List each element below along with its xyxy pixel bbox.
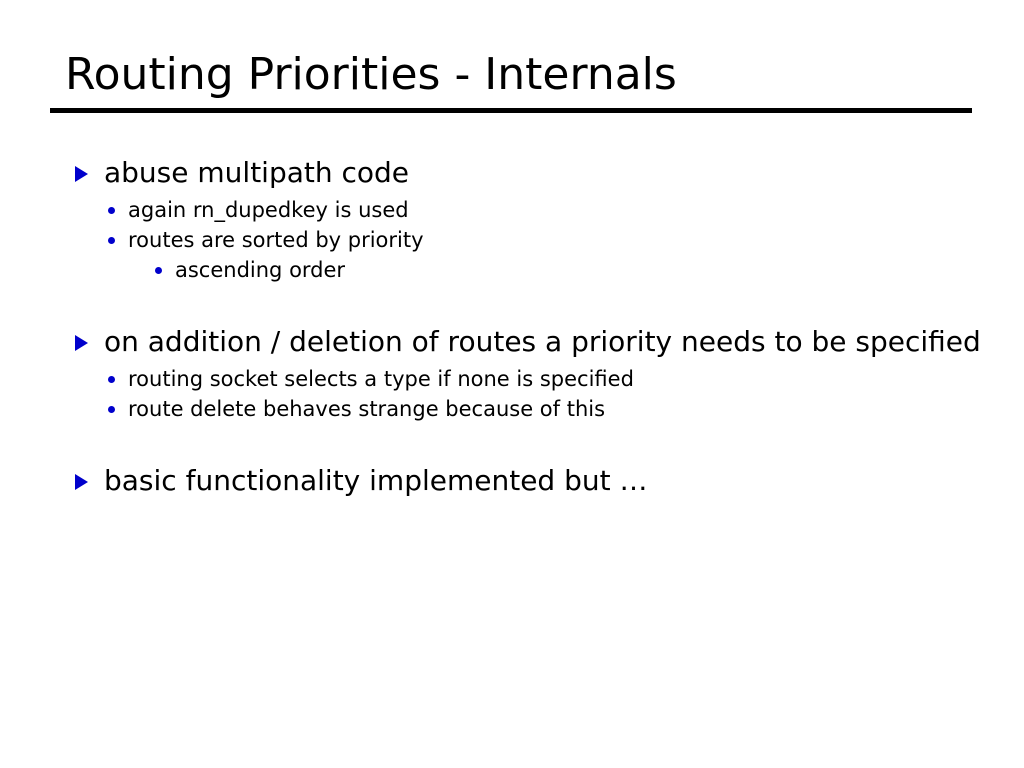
list-item-label: route delete behaves strange because of … [128, 397, 605, 421]
slide-canvas: Routing Priorities - Internals abuse mul… [0, 0, 1024, 768]
sub-list: routing socket selects a type if none is… [50, 364, 990, 424]
bullet-group: basic functionality implemented but … [50, 460, 990, 501]
title-underline-rule [50, 108, 972, 113]
dot-bullet-icon [108, 406, 115, 413]
dot-bullet-icon [108, 207, 115, 214]
bullet-group: abuse multipath code again rn_dupedkey i… [50, 152, 990, 285]
list-item-level2[interactable]: again rn_dupedkey is used [50, 195, 990, 225]
title-block: Routing Priorities - Internals [50, 48, 972, 113]
list-item-label: again rn_dupedkey is used [128, 198, 409, 222]
list-item-level2[interactable]: routing socket selects a type if none is… [50, 364, 990, 394]
list-item-level1[interactable]: basic functionality implemented but … [50, 460, 990, 501]
triangle-right-bullet-icon [75, 166, 88, 182]
list-item-label: on addition / deletion of routes a prior… [104, 321, 990, 362]
list-item-level3[interactable]: ascending order [50, 255, 990, 285]
list-item-label: ascending order [175, 258, 345, 282]
dot-bullet-icon [108, 376, 115, 383]
list-item-label: basic functionality implemented but … [104, 460, 990, 501]
list-item-level1[interactable]: on addition / deletion of routes a prior… [50, 321, 990, 362]
list-item-level2[interactable]: route delete behaves strange because of … [50, 394, 990, 424]
dot-bullet-icon [108, 237, 115, 244]
triangle-right-bullet-icon [75, 335, 88, 351]
triangle-right-bullet-icon [75, 474, 88, 490]
list-item-label: routes are sorted by priority [128, 228, 424, 252]
bullet-list: abuse multipath code again rn_dupedkey i… [50, 152, 990, 501]
sub-list: again rn_dupedkey is used routes are sor… [50, 195, 990, 285]
list-item-level2[interactable]: routes are sorted by priority [50, 225, 990, 255]
bullet-group: on addition / deletion of routes a prior… [50, 321, 990, 424]
list-item-label: abuse multipath code [104, 152, 990, 193]
page-title: Routing Priorities - Internals [50, 48, 972, 102]
list-item-label: routing socket selects a type if none is… [128, 367, 634, 391]
list-item-level1[interactable]: abuse multipath code [50, 152, 990, 193]
dot-bullet-icon [155, 267, 162, 274]
